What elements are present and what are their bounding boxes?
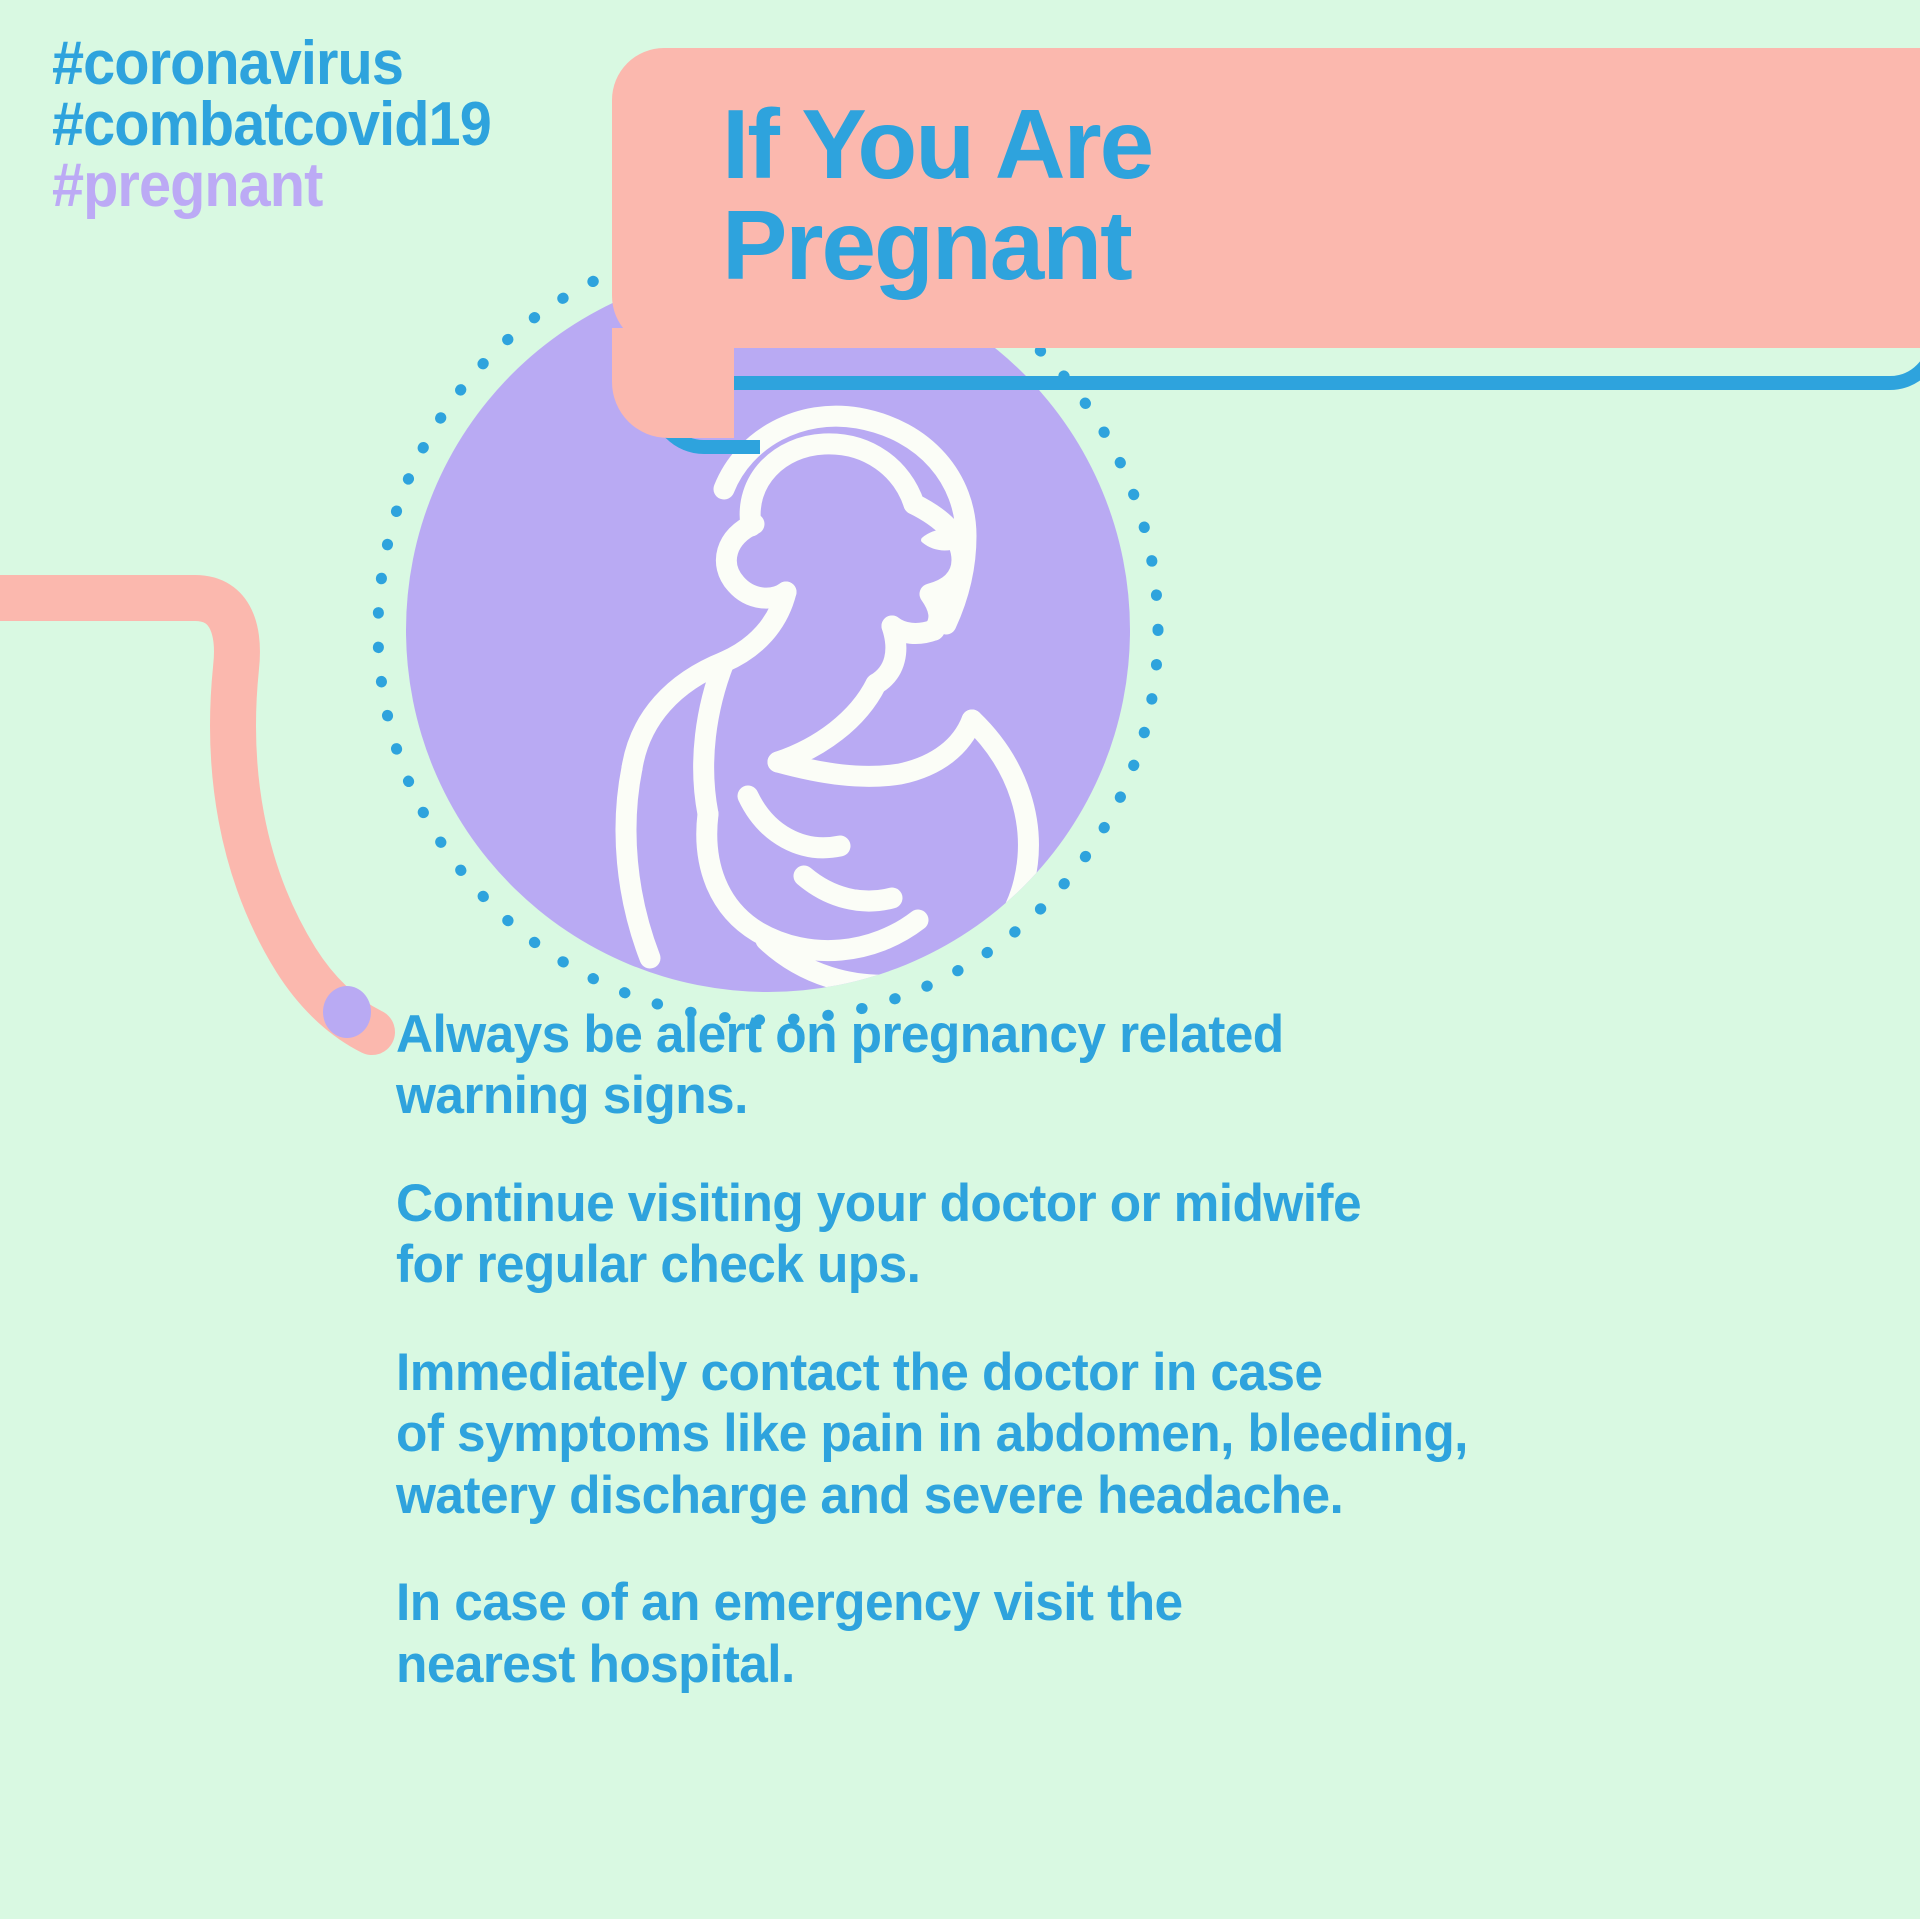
- speech-bubble: If You Are Pregnant: [612, 48, 1920, 398]
- connector-end-dot: [323, 986, 371, 1038]
- tips-list: Always be alert on pregnancy related war…: [396, 1004, 1796, 1695]
- hashtag-combatcovid19: #combatcovid19: [52, 95, 491, 156]
- tip-3: Immediately contact the doctor in case o…: [396, 1342, 1754, 1526]
- page-title: If You Are Pregnant: [722, 94, 1152, 296]
- tip-1: Always be alert on pregnancy related war…: [396, 1004, 1754, 1127]
- hashtag-coronavirus: #coronavirus: [52, 34, 491, 95]
- hashtag-pregnant: #pregnant: [52, 156, 491, 217]
- speech-bubble-fill-tail: [612, 328, 734, 438]
- hashtag-list: #coronavirus #combatcovid19 #pregnant: [52, 34, 524, 216]
- pink-connector-line: [0, 540, 430, 1070]
- infographic-poster: #coronavirus #combatcovid19 #pregnant: [0, 0, 1920, 1919]
- tip-4: In case of an emergency visit the neares…: [396, 1572, 1754, 1695]
- tip-2: Continue visiting your doctor or midwife…: [396, 1173, 1754, 1296]
